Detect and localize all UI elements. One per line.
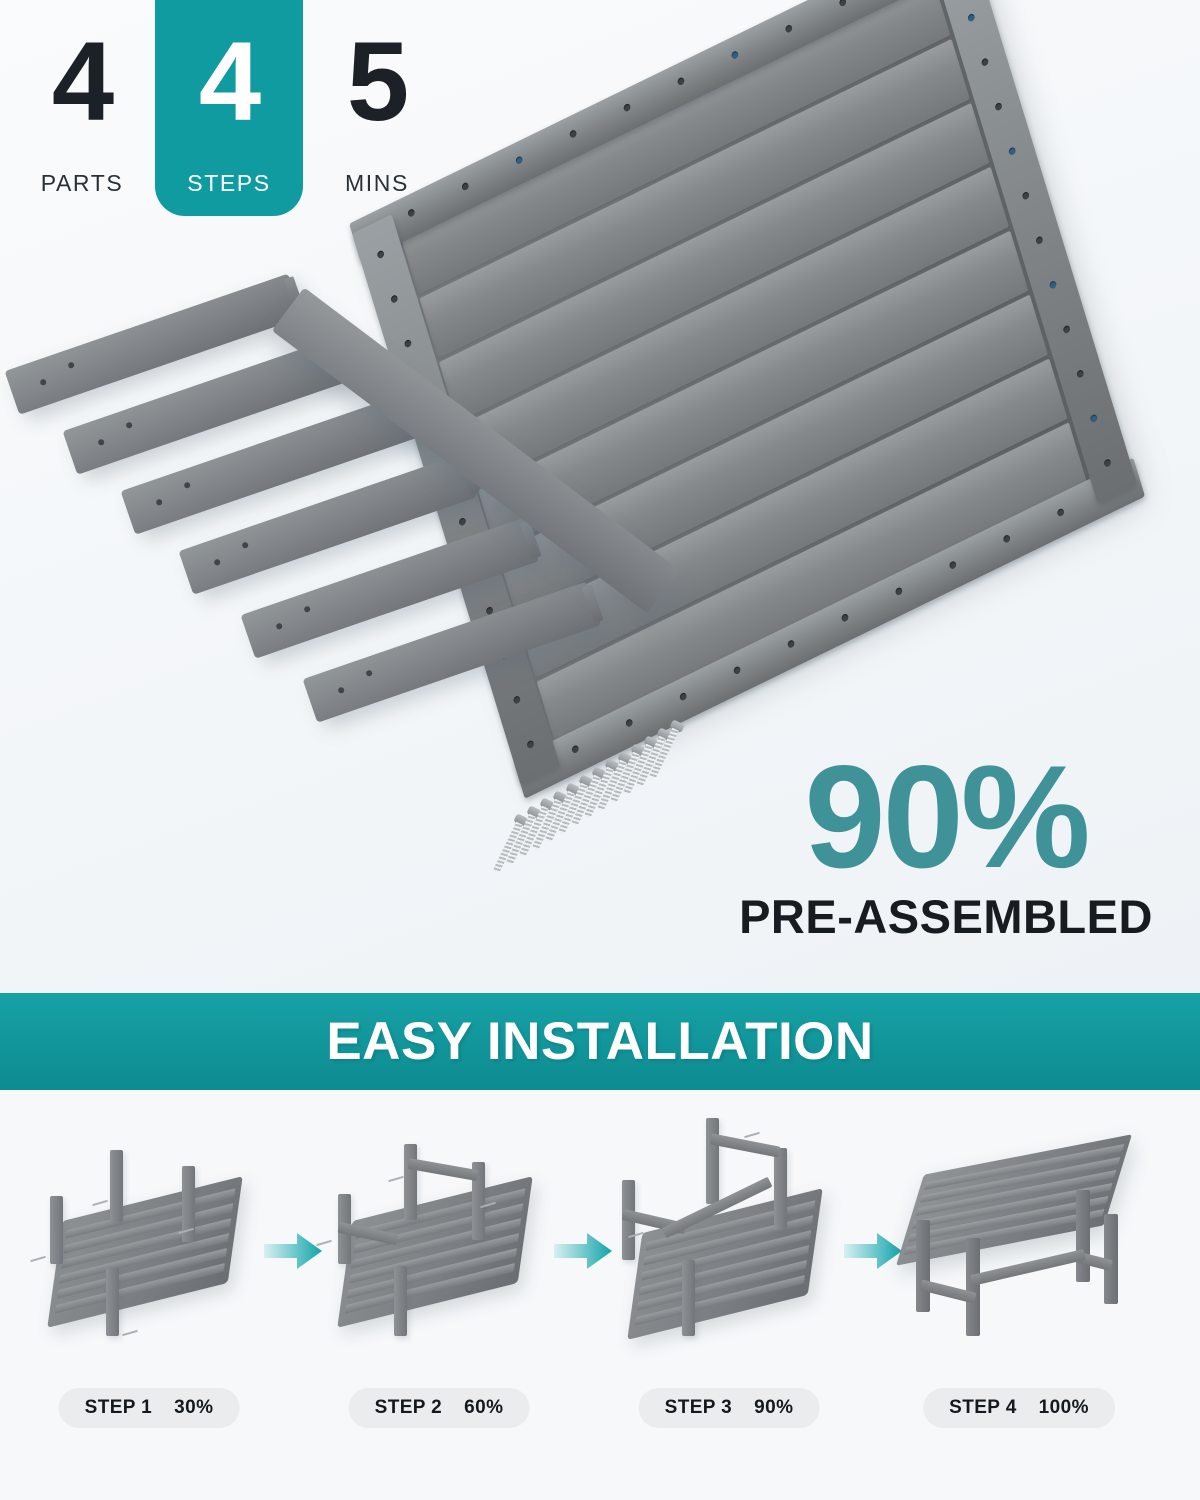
step-3-name: STEP 3 (665, 1397, 733, 1419)
mini-deck-side-rails (308, 1110, 570, 1360)
hero-section: 4 PARTS 4 STEPS 5 MINS (0, 0, 1200, 993)
infographic-page: 4 PARTS 4 STEPS 5 MINS (0, 0, 1200, 1500)
mini-finished-table (888, 1110, 1150, 1360)
mini-frame-center-stretcher (598, 1110, 860, 1360)
step-2-name: STEP 2 (375, 1397, 443, 1419)
stat-parts-label: PARTS (41, 170, 124, 197)
banner-title: EASY INSTALLATION (326, 1011, 873, 1072)
mini-post (394, 1266, 407, 1336)
stat-steps: 4 STEPS (155, 0, 303, 216)
step-4-illustration (888, 1110, 1150, 1360)
step-3-pill: STEP 3 90% (639, 1388, 820, 1428)
step-2-percent: 60% (464, 1397, 503, 1419)
step-2: STEP 2 60% (308, 1110, 570, 1480)
step-3-percent: 90% (754, 1397, 793, 1419)
installation-steps-section: STEP 1 30% (0, 1090, 1200, 1500)
mini-table-leg (916, 1220, 930, 1312)
mini-post (682, 1260, 695, 1336)
step-4-percent: 100% (1039, 1397, 1089, 1419)
stat-steps-number: 4 (199, 26, 259, 138)
step-1-pill: STEP 1 30% (59, 1388, 240, 1428)
stat-parts: 4 PARTS (8, 0, 156, 216)
mini-tabletop (896, 1134, 1132, 1265)
mini-lower-stretcher (970, 1249, 1086, 1286)
mini-deck-surface (47, 1176, 242, 1328)
mini-post (774, 1148, 787, 1230)
stat-parts-number: 4 (52, 26, 112, 138)
stats-strip: 4 PARTS 4 STEPS 5 MINS (0, 0, 440, 230)
step-1-name: STEP 1 (85, 1397, 153, 1419)
step-2-pill: STEP 2 60% (349, 1388, 530, 1428)
mini-post (110, 1150, 123, 1222)
mini-post (404, 1144, 417, 1220)
step-1: STEP 1 30% (18, 1110, 280, 1480)
mini-post (50, 1196, 63, 1264)
mini-table-leg (1076, 1190, 1090, 1282)
pre-assembled-percent: 90% (726, 748, 1166, 885)
mini-post (106, 1268, 119, 1336)
step-2-illustration (308, 1110, 570, 1360)
mini-deck-surface (337, 1176, 532, 1328)
step-4-pill: STEP 4 100% (923, 1388, 1115, 1428)
step-4-name: STEP 4 (949, 1397, 1017, 1419)
step-3-illustration (598, 1110, 860, 1360)
step-1-illustration (18, 1110, 280, 1360)
step-3: STEP 3 90% (598, 1110, 860, 1480)
mini-deck-surface (627, 1188, 822, 1340)
stat-mins-label: MINS (345, 170, 409, 197)
pre-assembled-block: 90% PRE-ASSEMBLED (726, 748, 1166, 944)
pre-assembled-caption: PRE-ASSEMBLED (726, 889, 1166, 944)
stat-steps-label: STEPS (187, 170, 270, 197)
mini-table-leg (966, 1238, 980, 1336)
screws-group (505, 705, 705, 865)
step-4: STEP 4 100% (888, 1110, 1150, 1480)
easy-installation-banner: EASY INSTALLATION (0, 993, 1200, 1090)
mini-side-rail (408, 1158, 479, 1181)
step-1-percent: 30% (174, 1397, 213, 1419)
mini-post (706, 1118, 719, 1204)
stat-mins-number: 5 (347, 26, 407, 138)
mini-deck-four-posts (18, 1110, 280, 1360)
